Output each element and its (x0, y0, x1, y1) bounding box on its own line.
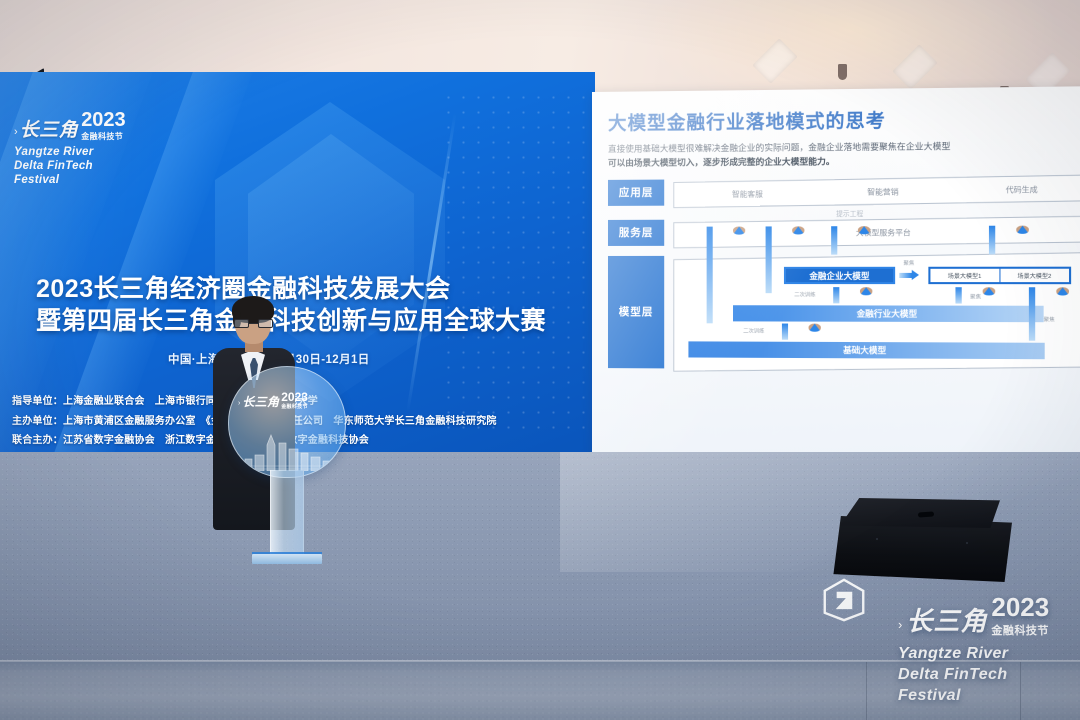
train-up-arrow-icon (778, 323, 791, 339)
model-layer-tag: 模型层 (608, 256, 664, 369)
lectern-stem (270, 470, 304, 556)
floor-seam (1020, 662, 1021, 720)
city-skyline-icon (241, 429, 335, 471)
app-item: 智能营销 (868, 186, 899, 197)
layer-up-arrow-icon (985, 226, 999, 255)
service-layer-row: 服务层 大模型服务平台 (608, 218, 1080, 246)
slide-body-line2: 可以由场景大模型切入，逐步形成完整的企业大模型能力。 (608, 153, 1073, 170)
logo-en-line1: Yangtze River (14, 145, 194, 159)
train-up-arrow-icon (829, 287, 842, 303)
service-layer-tag: 服务层 (608, 220, 664, 246)
floor-monitor-speaker (826, 498, 1012, 590)
logo-chinese-name: 长三角 (20, 115, 79, 142)
monitor-screw-dot (876, 538, 878, 540)
lectern-logo: › 长三角 2023 金融科技节 (238, 391, 308, 410)
scene-model-box: 场景大模型1 (930, 269, 1000, 282)
scene-model-box: 场景大模型2 (1000, 269, 1069, 282)
presentation-screen: 大模型金融行业落地模式的思考 直接使用基础大模型很难解决金融企业的实际问题，金融… (592, 86, 1080, 470)
arrow-label: 聚焦 (970, 293, 981, 300)
lectern-logo-cn: 长三角 (242, 393, 279, 410)
model-layer-box: 金融企业大模型 聚焦 场景大模型1 场景大模型2 金融行业大模型 基础大模型 (673, 252, 1080, 372)
lectern-logo-arrow-icon: › (238, 398, 240, 410)
application-layer-row: 应用层 智能客服 智能营销 代码生成 (608, 177, 1080, 206)
focus-up-arrow-icon (951, 287, 965, 303)
monitor-screw-dot (966, 542, 968, 544)
lectern-logo-sub: 金融科技节 (281, 403, 308, 410)
base-model-box: 基础大模型 (688, 341, 1044, 359)
lectern-logo-year: 2023 (281, 391, 308, 403)
application-layer-items: 智能客服 智能营销 代码生成 (673, 174, 1080, 208)
conference-stage-photo: › 长三角 2023 金融科技节 Yangtze River Delta Fin… (0, 0, 1080, 720)
glasses-icon (234, 319, 273, 328)
stage-step (0, 662, 1080, 720)
logo-year: 2023 (81, 110, 126, 130)
presentation-slide: 大模型金融行业落地模式的思考 直接使用基础大模型很难解决金融企业的实际问题，金融… (608, 105, 1080, 470)
slide-body: 直接使用基础大模型很难解决金融企业的实际问题，金融企业落地需要聚焦在企业大模型 … (608, 139, 1073, 171)
lectern-front-panel: › 长三角 2023 金融科技节 (228, 366, 346, 478)
lectern: › 长三角 2023 金融科技节 (228, 366, 348, 566)
arrow-label: 聚焦 (1044, 316, 1055, 323)
slide-architecture-diagram: 应用层 智能客服 智能营销 代码生成 提示工程 服务层 大模型服务平台 (608, 177, 1080, 371)
enterprise-model-box: 金融企业大模型 (784, 267, 895, 284)
arrow-label: 二次训练 (794, 291, 815, 298)
focus-up-arrow-icon (1025, 287, 1039, 340)
logo-arrow-icon: › (14, 122, 18, 142)
logo-en-line2: Delta FinTech (14, 159, 194, 173)
layer-up-arrow-icon (827, 226, 840, 254)
backdrop-dot-pattern (441, 90, 591, 430)
app-item: 智能客服 (732, 188, 763, 199)
model-layer-row: 模型层 金融企业大模型 聚焦 场景大模型1 场景大模型2 (608, 255, 1080, 371)
app-item: 代码生成 (1005, 183, 1037, 194)
industry-model-box: 金融行业大模型 (733, 305, 1044, 322)
application-layer-tag: 应用层 (608, 179, 664, 205)
arrow-label: 二次训练 (743, 327, 764, 334)
scene-model-group: 场景大模型1 场景大模型2 (928, 267, 1071, 285)
logo-subtitle: 金融科技节 (81, 131, 123, 142)
layer-up-arrow-icon (703, 226, 716, 323)
floor-seam (866, 662, 867, 720)
focus-right-arrow-icon (899, 270, 919, 280)
arrow-label: 聚焦 (903, 259, 914, 266)
layer-up-arrow-icon (762, 226, 775, 293)
festival-logo: › 长三角 2023 金融科技节 Yangtze River Delta Fin… (14, 110, 194, 187)
logo-en-line3: Festival (14, 173, 194, 187)
slide-title: 大模型金融行业落地模式的思考 (608, 105, 1080, 136)
lectern-base (252, 554, 322, 564)
